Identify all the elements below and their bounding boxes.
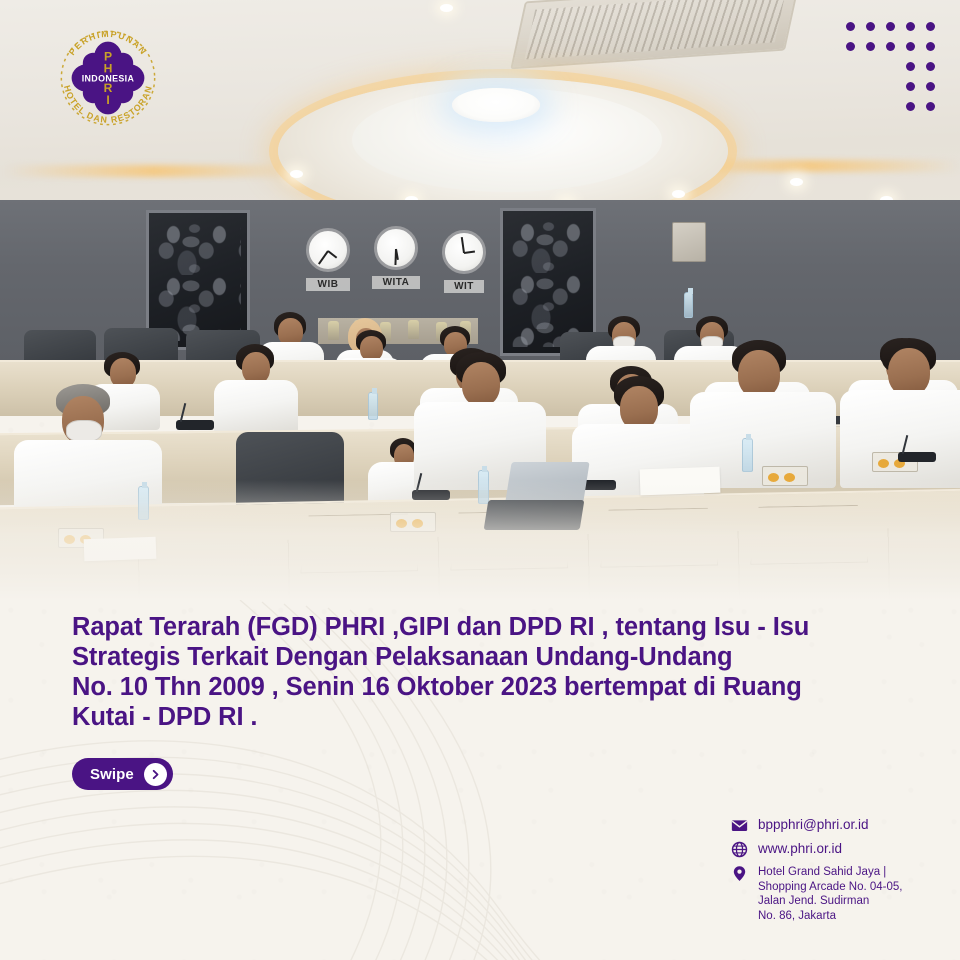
wall-clock-wib <box>306 228 350 272</box>
grid-dot-empty <box>886 62 895 71</box>
grid-dot-empty <box>866 102 875 111</box>
contact-website-row[interactable]: www.phri.or.id <box>730 840 945 859</box>
grid-dot <box>866 42 875 51</box>
grid-dot-empty <box>866 62 875 71</box>
clock-label-wib: WIB <box>306 278 350 291</box>
grid-dot-empty <box>846 62 855 71</box>
location-pin-icon <box>730 864 749 883</box>
grid-dot-empty <box>886 102 895 111</box>
water-bottle <box>368 392 378 420</box>
wall-clock-wita <box>374 226 418 270</box>
swipe-button-label: Swipe <box>90 766 134 783</box>
grid-dot <box>926 82 935 91</box>
downlight <box>440 4 453 12</box>
photo-fade-overlay <box>0 480 960 600</box>
clock-label-wita: WITA <box>372 276 420 289</box>
cove-light-left <box>4 165 304 177</box>
grid-dot <box>846 42 855 51</box>
grid-dot <box>886 22 895 31</box>
ceiling-ac-vent <box>510 0 799 69</box>
contact-address-text: Hotel Grand Sahid Jaya | Shopping Arcade… <box>758 864 903 923</box>
grid-dot <box>866 22 875 31</box>
trophy <box>328 321 339 340</box>
water-bottle <box>684 292 693 318</box>
chevron-right-icon <box>144 763 167 786</box>
contact-block: bppphri@phri.or.id www.phri.or.id <box>730 816 945 928</box>
contact-address-row: Hotel Grand Sahid Jaya | Shopping Arcade… <box>730 864 945 923</box>
grid-dot <box>926 102 935 111</box>
grid-dot <box>926 22 935 31</box>
desk-microphone <box>176 420 214 430</box>
swipe-button[interactable]: Swipe <box>72 758 173 790</box>
wall-speaker <box>672 222 706 262</box>
downlight <box>290 170 303 178</box>
grid-dot <box>906 82 915 91</box>
grid-dot-empty <box>846 102 855 111</box>
grid-dot-empty <box>866 82 875 91</box>
grid-dot <box>906 102 915 111</box>
grid-dot-empty <box>886 82 895 91</box>
contact-email-text: bppphri@phri.or.id <box>758 816 869 833</box>
trophy <box>408 320 419 339</box>
grid-dot <box>926 62 935 71</box>
mail-icon <box>730 816 749 835</box>
grid-dot <box>846 22 855 31</box>
post-canvas: WIB WITA WIT <box>0 0 960 960</box>
globe-icon <box>730 840 749 859</box>
clock-label-wit: WIT <box>444 280 484 293</box>
grid-dot-empty <box>846 82 855 91</box>
desk-microphone <box>898 452 936 462</box>
grid-dot <box>906 42 915 51</box>
downlight <box>790 178 803 186</box>
contact-website-text: www.phri.or.id <box>758 840 842 857</box>
downlight <box>672 190 685 198</box>
svg-text:I: I <box>106 93 109 107</box>
ceiling-lamp <box>452 88 540 122</box>
wall-clock-wit <box>442 230 486 274</box>
page-title: Rapat Terarah (FGD) PHRI ,GIPI dan DPD R… <box>72 612 902 732</box>
svg-text:INDONESIA: INDONESIA <box>82 73 135 83</box>
grid-dot <box>906 62 915 71</box>
grid-dot <box>906 22 915 31</box>
water-bottle <box>742 438 753 472</box>
grid-dot <box>926 42 935 51</box>
dot-grid-decoration <box>846 22 946 122</box>
contact-email-row[interactable]: bppphri@phri.or.id <box>730 816 945 835</box>
phri-logo: P H R I INDONESIA PERHIMPUNAN HOTEL DAN … <box>52 22 164 134</box>
grid-dot <box>886 42 895 51</box>
